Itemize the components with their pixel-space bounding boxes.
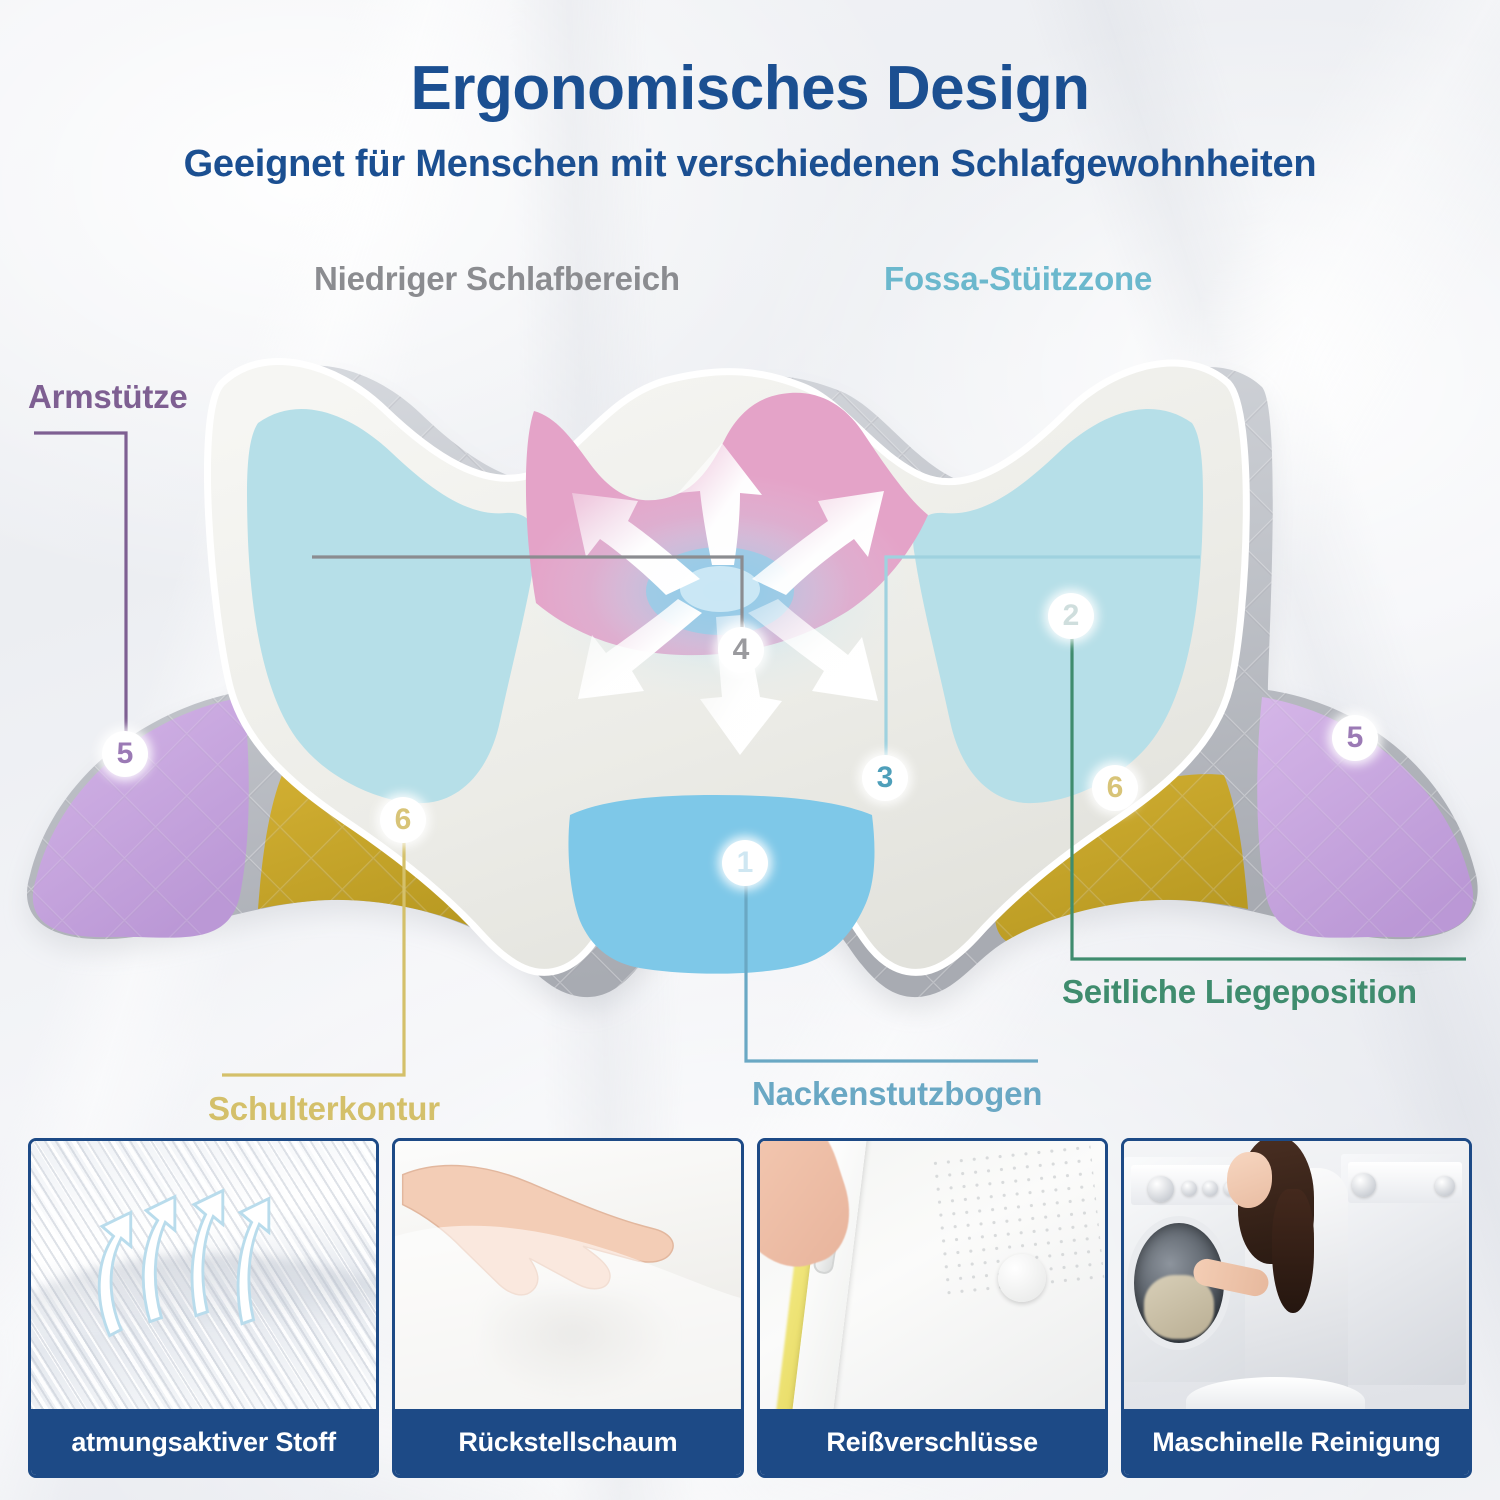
zone-neck-support-arch	[568, 795, 874, 974]
callout-label-side-sleeping: Seitliche Liegeposition	[1062, 973, 1417, 1011]
badge-5-arm-rest-right: 5	[1332, 715, 1378, 761]
callout-label-shoulder-contour: Schulterkontur	[208, 1090, 440, 1128]
callout-label-low-sleep-zone: Niedriger Schlafbereich	[314, 260, 680, 298]
badge-1-neck-arch: 1	[722, 840, 768, 886]
connector-arm-rest	[34, 433, 126, 757]
airflow-arrows-icon	[31, 1141, 376, 1409]
infographic-root: Ergonomisches Design Geeignet für Mensch…	[0, 0, 1500, 1500]
hand-on-foam-icon	[395, 1141, 740, 1409]
pillow-diagram: Niedriger Schlafbereich Fossa-Stüitzzone…	[0, 235, 1500, 1135]
badge-6-shoulder-left: 6	[380, 797, 426, 843]
feature-caption-rebound-foam: Rückstellschaum	[395, 1409, 740, 1475]
feature-caption-breathable-fabric: atmungsaktiver Stoff	[31, 1409, 376, 1475]
badge-5-arm-rest-left: 5	[102, 731, 148, 777]
page-subtitle: Geeignet für Menschen mit verschiedenen …	[0, 143, 1500, 186]
feature-card-machine-washable[interactable]: Maschinelle Reinigung	[1121, 1138, 1472, 1478]
page-title: Ergonomisches Design	[0, 56, 1500, 121]
feature-card-row: atmungsaktiver Stoff Rückstellschaum	[28, 1138, 1472, 1478]
photo-rebound-foam	[395, 1141, 740, 1409]
photo-breathable-fabric	[31, 1141, 376, 1409]
feature-card-zippers[interactable]: Reißverschlüsse	[757, 1138, 1108, 1478]
badge-4-low-sleep-zone: 4	[718, 627, 764, 673]
callout-label-fossa-support: Fossa-Stüitzzone	[884, 260, 1152, 298]
callout-label-neck-arch: Nackenstutzbogen	[752, 1075, 1042, 1113]
photo-machine-washable	[1124, 1141, 1469, 1409]
callout-label-arm-rest: Armstütze	[28, 378, 188, 416]
feature-caption-zippers: Reißverschlüsse	[760, 1409, 1105, 1475]
feature-card-rebound-foam[interactable]: Rückstellschaum	[392, 1138, 743, 1478]
badge-3-fossa-support: 3	[862, 755, 908, 801]
badge-6-shoulder-right: 6	[1092, 765, 1138, 811]
feature-card-breathable-fabric[interactable]: atmungsaktiver Stoff	[28, 1138, 379, 1478]
header: Ergonomisches Design Geeignet für Mensch…	[0, 56, 1500, 186]
feature-caption-machine-washable: Maschinelle Reinigung	[1124, 1409, 1469, 1475]
photo-zippers	[760, 1141, 1105, 1409]
badge-2-side-sleeping: 2	[1048, 593, 1094, 639]
